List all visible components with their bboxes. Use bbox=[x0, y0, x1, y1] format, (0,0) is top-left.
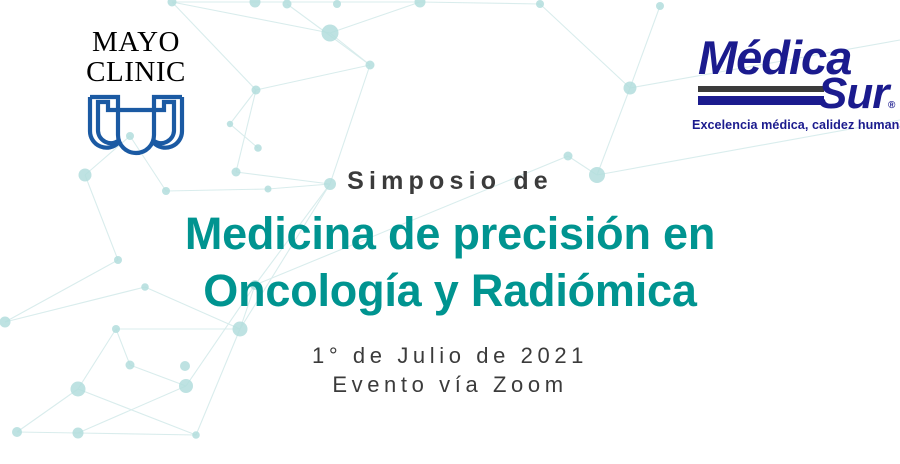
event-modality: Evento vía Zoom bbox=[0, 371, 900, 400]
svg-text:Sur: Sur bbox=[818, 69, 892, 116]
eyebrow-label: Simposio de bbox=[0, 166, 900, 197]
event-details: 1° de Julio de 2021 Evento vía Zoom bbox=[0, 342, 900, 399]
medica-sur-tagline: Excelencia médica, calidez humana bbox=[692, 118, 900, 132]
event-poster: MAYO CLINIC Médica Sur ® Excelencia médi… bbox=[0, 0, 900, 464]
headline-line-2: Oncología y Radiómica bbox=[0, 263, 900, 320]
headline-line-1: Medicina de precisión en bbox=[0, 206, 900, 263]
medica-sur-logo: Médica Sur ® Excelencia médica, calidez … bbox=[692, 28, 900, 132]
mayo-clinic-logo: MAYO CLINIC bbox=[66, 28, 206, 157]
mayo-clinic-wordmark: MAYO CLINIC bbox=[66, 28, 206, 87]
svg-text:®: ® bbox=[888, 100, 896, 111]
event-date: 1° de Julio de 2021 bbox=[0, 342, 900, 371]
mayo-clinic-shield-icon bbox=[84, 91, 188, 157]
medica-sur-mark: Médica Sur ® bbox=[692, 28, 900, 116]
title-block: Simposio de Medicina de precisión en Onc… bbox=[0, 166, 900, 320]
